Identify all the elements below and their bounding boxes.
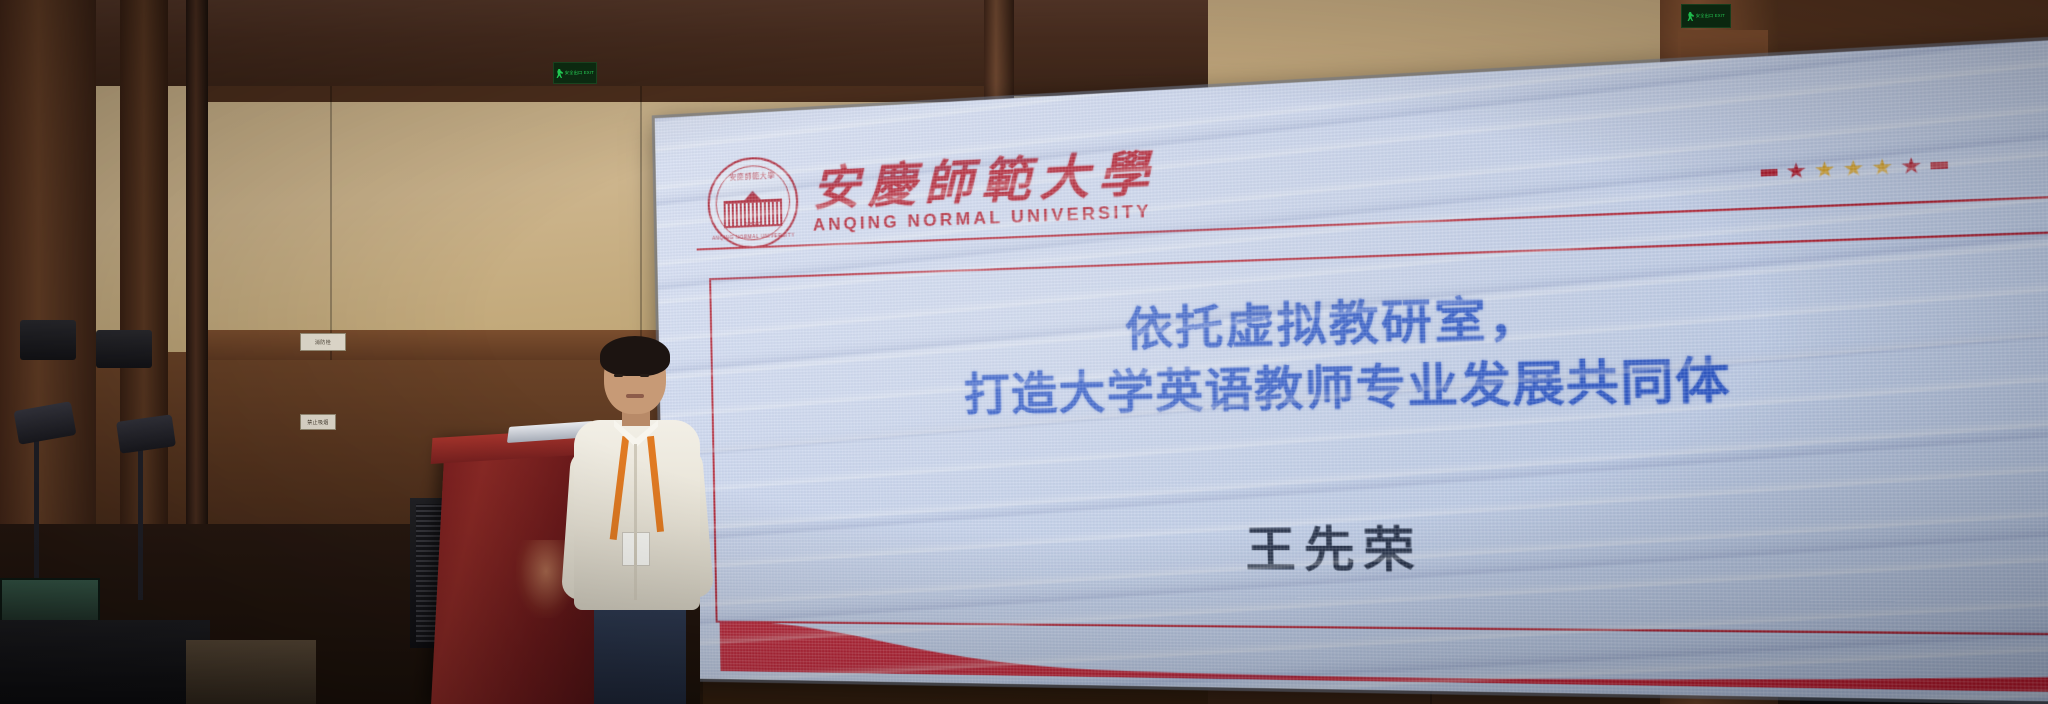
wall-plaque-1: 消防栓 xyxy=(300,333,346,351)
running-man-icon xyxy=(556,68,564,77)
presenter-person xyxy=(560,340,720,704)
wave-shape-icon xyxy=(720,619,2048,692)
seal-arc-bottom-text: ANQING NORMAL UNIVERSITY xyxy=(710,232,797,241)
wall-column-left-inner xyxy=(120,0,168,560)
running-man-icon xyxy=(1687,11,1695,20)
star-icon-4 xyxy=(1872,158,1892,176)
university-name-block: 安慶師範大學 ANQING NORMAL UNIVERSITY xyxy=(812,148,1159,235)
stage-light-stand-1 xyxy=(34,420,39,600)
person-shirt-placket xyxy=(634,444,637,600)
star-icon-3 xyxy=(1843,159,1863,177)
star-icon-1 xyxy=(1786,162,1806,180)
foreground-equipment-rack xyxy=(0,578,100,622)
wall-seam-3 xyxy=(640,86,642,360)
exit-sign-label: 安全出口 EXIT xyxy=(565,71,594,75)
seal-arc-top-text: 安慶師範大學 xyxy=(709,169,796,183)
decoration-dash-left xyxy=(1761,168,1778,176)
university-seal-icon: 安慶師範大學 1897 ANQING NORMAL UNIVERSITY xyxy=(707,155,799,250)
star-decoration-group xyxy=(1761,156,1949,181)
person-legs xyxy=(594,604,686,704)
foreground-flight-case xyxy=(0,620,210,704)
wall-speaker-left-1 xyxy=(20,320,76,360)
wall-speaker-left-2 xyxy=(96,330,152,368)
exit-sign-right: 安全出口 EXIT xyxy=(1681,4,1731,28)
slide-bottom-wave-decoration xyxy=(720,619,2048,692)
person-hair xyxy=(600,336,670,376)
foreground-crate xyxy=(186,640,316,704)
slide-content: 安慶師範大學 1897 ANQING NORMAL UNIVERSITY 安慶師… xyxy=(655,38,2048,703)
wall-wood-trim-top xyxy=(208,86,998,102)
presenter-name: 王先荣 xyxy=(714,508,2048,584)
person-torso-shirt xyxy=(574,420,700,610)
stage-light-stand-2 xyxy=(138,430,143,600)
wall-plaque-2: 禁止吸烟 xyxy=(300,414,336,430)
person-eye-right xyxy=(640,374,649,377)
exit-sign-label: 安全出口 EXIT xyxy=(1696,14,1725,18)
decoration-dash-right xyxy=(1930,161,1947,169)
star-icon-5 xyxy=(1901,157,1921,175)
star-icon-2 xyxy=(1815,161,1835,179)
exit-sign-left: 安全出口 EXIT xyxy=(553,62,597,84)
led-presentation-screen: 安慶師範大學 1897 ANQING NORMAL UNIVERSITY 安慶師… xyxy=(655,38,2048,703)
person-mouth xyxy=(626,394,644,398)
wall-seam-2 xyxy=(330,86,332,360)
person-eye-left xyxy=(614,374,623,377)
conference-photo-scene: 安全出口 EXIT 安全出口 EXIT 消防栓 禁止吸烟 安慶師範大學 1897… xyxy=(0,0,2048,704)
